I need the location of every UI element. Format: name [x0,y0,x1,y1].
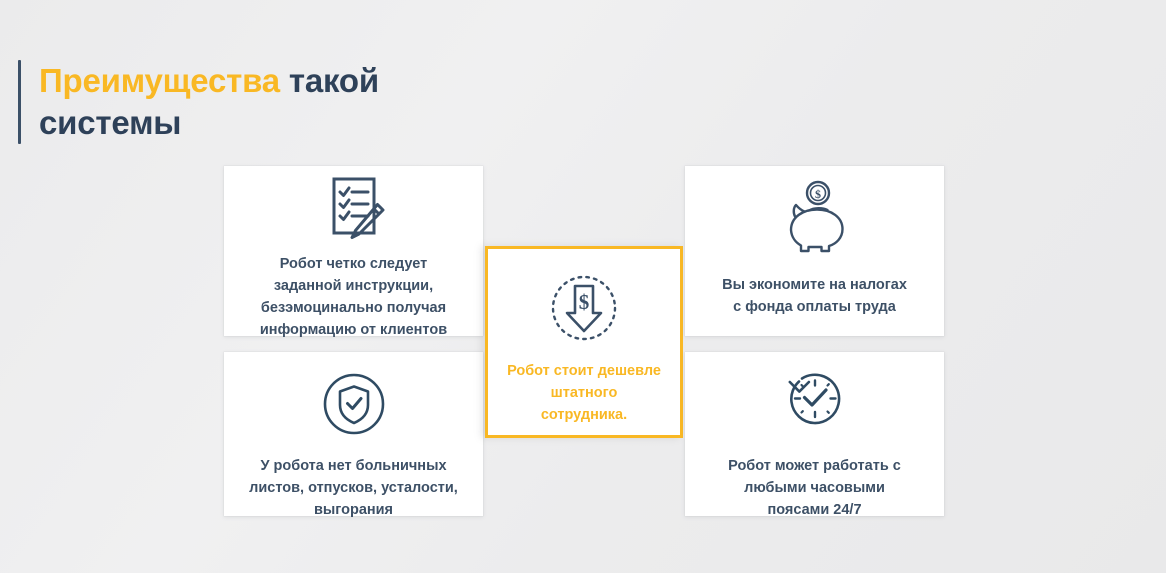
page-title: Преимущества такой системы [18,60,379,144]
title-highlight-word: Преимущества [39,62,280,99]
card-instructions-text: Робот четко следует заданной инструкции,… [260,253,447,341]
card-taxes[interactable]: $ Вы экономите на налогах с фонда оплаты… [685,166,944,336]
card-health-text: У робота нет больничных листов, отпусков… [249,455,458,521]
card-health[interactable]: У робота нет больничных листов, отпусков… [224,352,483,516]
card-taxes-text: Вы экономите на налогах с фонда оплаты т… [722,274,907,318]
title-accent-rule [18,60,21,144]
svg-text:$: $ [579,290,590,314]
card-timezones[interactable]: Робот может работать с любыми часовыми п… [685,352,944,516]
shield-check-icon [321,371,387,437]
card-cheaper-highlighted[interactable]: $ Робот стоит дешевле штатного сотрудник… [485,246,683,438]
svg-text:$: $ [815,187,821,201]
card-instructions[interactable]: Робот четко следует заданной инструкции,… [224,166,483,336]
card-timezones-text: Робот может работать с любыми часовыми п… [728,455,901,521]
card-cheaper-text: Робот стоит дешевле штатного сотрудника. [507,360,661,426]
checklist-pencil-icon [321,175,387,247]
clock-arrow-24-7-icon [780,370,850,436]
dollar-arrow-down-icon: $ [549,273,619,343]
piggy-bank-icon: $ [777,180,853,258]
title-heading: Преимущества такой системы [39,60,379,144]
